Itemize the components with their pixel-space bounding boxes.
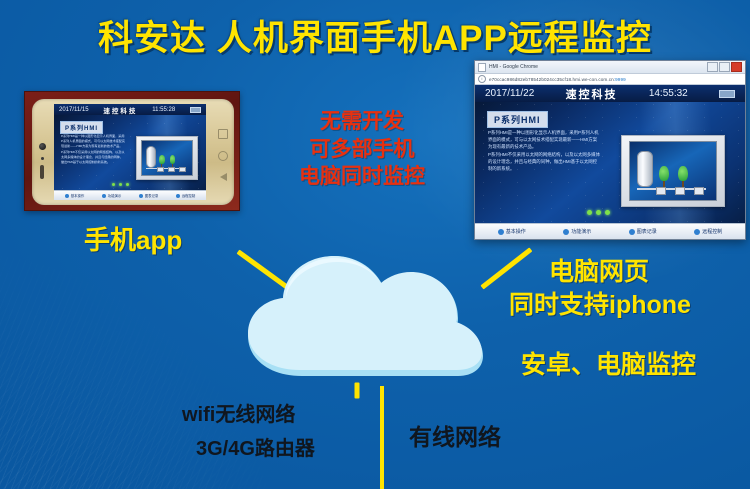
phone-screen[interactable]: 2017/11/15 速控科技 11:55:28 P系列HMI P系列HMI是一… (54, 104, 206, 200)
network-cloud (242, 250, 487, 382)
phone-hmi-device-image (136, 136, 198, 180)
phone-nav-buttons[interactable] (216, 129, 230, 181)
phone-hmi-device-screen (141, 140, 193, 176)
phone-hmi-description: P系列HMI是一种以图形化显示人机界面，采用P系列人机界面的模式，可与以太网技术… (61, 134, 125, 167)
poster-canvas: 科安达 人机界面手机APP远程监控 2017/11/15 速控科技 11:55 (0, 0, 750, 489)
phone-hmi-date: 2017/11/15 (59, 107, 89, 113)
phone-body: 2017/11/15 速控科技 11:55:28 P系列HMI P系列HMI是一… (32, 99, 234, 205)
connector-line-computer (480, 247, 532, 289)
tank-graphic-browser (637, 151, 653, 187)
equipment-box-b3 (694, 187, 705, 195)
phone-hmi-indicator-leds (112, 183, 129, 186)
label-supports-iphone: 同时支持iphone (509, 285, 691, 321)
browser-address-bar[interactable]: i e70ccac986d82eb78542b024cc35cf18.hmi.w… (475, 74, 745, 85)
phone-camera-icon (39, 143, 46, 150)
label-red-line3: 电脑同时监控 (299, 163, 425, 191)
phone-hmi-time: 11:55:28 (152, 107, 175, 113)
browser-toolbar-item-2[interactable]: 图表记录 (629, 228, 657, 235)
label-red-callout: 无需开发 可多部手机 电脑同时监控 (299, 108, 425, 191)
label-router: 3G/4G路由器 (196, 432, 315, 461)
phone-hmi-desc-p2: P系列HMI不仅采用以太网的网络结构，以及以太网多媒体的设计理念，并且与经典的同… (61, 150, 125, 164)
window-controls[interactable] (707, 62, 742, 72)
phone-hmi-series-tag: P系列HMI (60, 121, 103, 134)
browser-toolbar-item-3[interactable]: 远程控制 (694, 228, 722, 235)
connector-line-bottom (355, 383, 360, 399)
phone-toolbar-item-1[interactable]: 功能演示 (102, 193, 122, 198)
phone-toolbar-item-3[interactable]: 远程控制 (176, 193, 196, 198)
browser-hmi-desc-p2: P系列HMI不仅采用以太网的网络结构，以及以太网多媒体的设计理念，并且与经典的同… (488, 152, 600, 172)
browser-toolbar-item-0[interactable]: 基本操作 (498, 228, 526, 235)
label-wired-network: 有线网络 (409, 418, 501, 452)
label-wifi-network: wifi无线网络 (182, 398, 295, 427)
browser-hmi-device-image (621, 135, 725, 207)
page-favicon-icon (478, 63, 486, 72)
browser-window[interactable]: HMI - Google Chrome i e70ccac986d82eb785… (474, 60, 746, 240)
tree-graphic-b1 (659, 166, 668, 187)
browser-hmi-series-tag: P系列HMI (487, 111, 548, 128)
recent-apps-icon[interactable] (218, 129, 228, 139)
maximize-icon[interactable] (719, 62, 730, 72)
tree-graphic-b2 (678, 166, 687, 187)
phone-toolbar-item-0[interactable]: 基本操作 (65, 193, 85, 198)
browser-hmi-app: 2017/11/22 速控科技 14:55:32 P系列HMI P系列HMI是一… (475, 85, 745, 239)
equipment-box-3 (179, 167, 186, 173)
browser-hmi-indicator-leds (587, 210, 610, 215)
phone-hmi-status-badge (190, 107, 201, 113)
minimize-icon[interactable] (707, 62, 718, 72)
browser-toolbar-item-1[interactable]: 功能演示 (563, 228, 591, 235)
phone-toolbar-item-2[interactable]: 图表记录 (139, 193, 159, 198)
browser-hmi-desc-p1: P系列HMI是一种以图形化显示人机界面，采用P系列人机界面的模式，可与以太网技术… (488, 130, 600, 150)
site-info-icon[interactable]: i (478, 75, 486, 83)
equipment-box-1 (157, 167, 164, 173)
label-android-pc-monitor: 安卓、电脑监控 (521, 345, 696, 381)
browser-url[interactable]: e70ccac986d82eb78542b024cc35cf18.hmi.we-… (489, 77, 626, 82)
browser-hmi-time: 14:55:32 (649, 88, 688, 99)
label-red-line1: 无需开发 (299, 108, 425, 136)
browser-hmi-toolbar[interactable]: 基本操作 功能演示 图表记录 远程控制 (475, 223, 745, 239)
browser-hmi-description: P系列HMI是一种以图形化显示人机界面，采用P系列人机界面的模式，可与以太网技术… (488, 130, 600, 175)
back-icon[interactable] (220, 173, 227, 181)
browser-hmi-status-badge (719, 90, 735, 98)
browser-window-title: HMI - Google Chrome (489, 64, 538, 70)
label-computer-web: 电脑网页 (549, 252, 649, 288)
equipment-box-2 (168, 167, 175, 173)
label-red-line2: 可多部手机 (299, 136, 425, 164)
phone-photo: 2017/11/15 速控科技 11:55:28 P系列HMI P系列HMI是一… (24, 91, 240, 211)
browser-hmi-brand: 速控科技 (566, 86, 618, 102)
close-icon[interactable] (731, 62, 742, 72)
browser-hmi-device-screen (629, 141, 717, 201)
phone-hmi-header: 2017/11/15 速控科技 11:55:28 (54, 104, 206, 115)
browser-title-bar[interactable]: HMI - Google Chrome (475, 61, 745, 74)
bottom-divider (380, 386, 384, 489)
page-title: 科安达 人机界面手机APP远程监控 (0, 10, 750, 61)
equipment-box-b2 (675, 187, 686, 195)
phone-hmi-brand: 速控科技 (103, 105, 137, 115)
browser-viewport[interactable]: 2017/11/22 速控科技 14:55:32 P系列HMI P系列HMI是一… (475, 85, 745, 239)
home-icon[interactable] (218, 151, 228, 161)
phone-hmi-toolbar[interactable]: 基本操作 功能演示 图表记录 远程控制 (54, 190, 206, 200)
phone-sensor-icon (41, 157, 44, 160)
equipment-box-b1 (656, 187, 667, 195)
tank-graphic (146, 146, 156, 168)
phone-speaker-icon (40, 165, 44, 179)
phone-hmi-desc-p1: P系列HMI是一种以图形化显示人机界面，采用P系列人机界面的模式，可与以太网技术… (61, 134, 125, 148)
phone-hmi-app: 2017/11/15 速控科技 11:55:28 P系列HMI P系列HMI是一… (54, 104, 206, 200)
label-phone-app: 手机app (84, 220, 182, 257)
browser-hmi-header: 2017/11/22 速控科技 14:55:32 (475, 85, 745, 102)
browser-hmi-date: 2017/11/22 (485, 88, 534, 99)
